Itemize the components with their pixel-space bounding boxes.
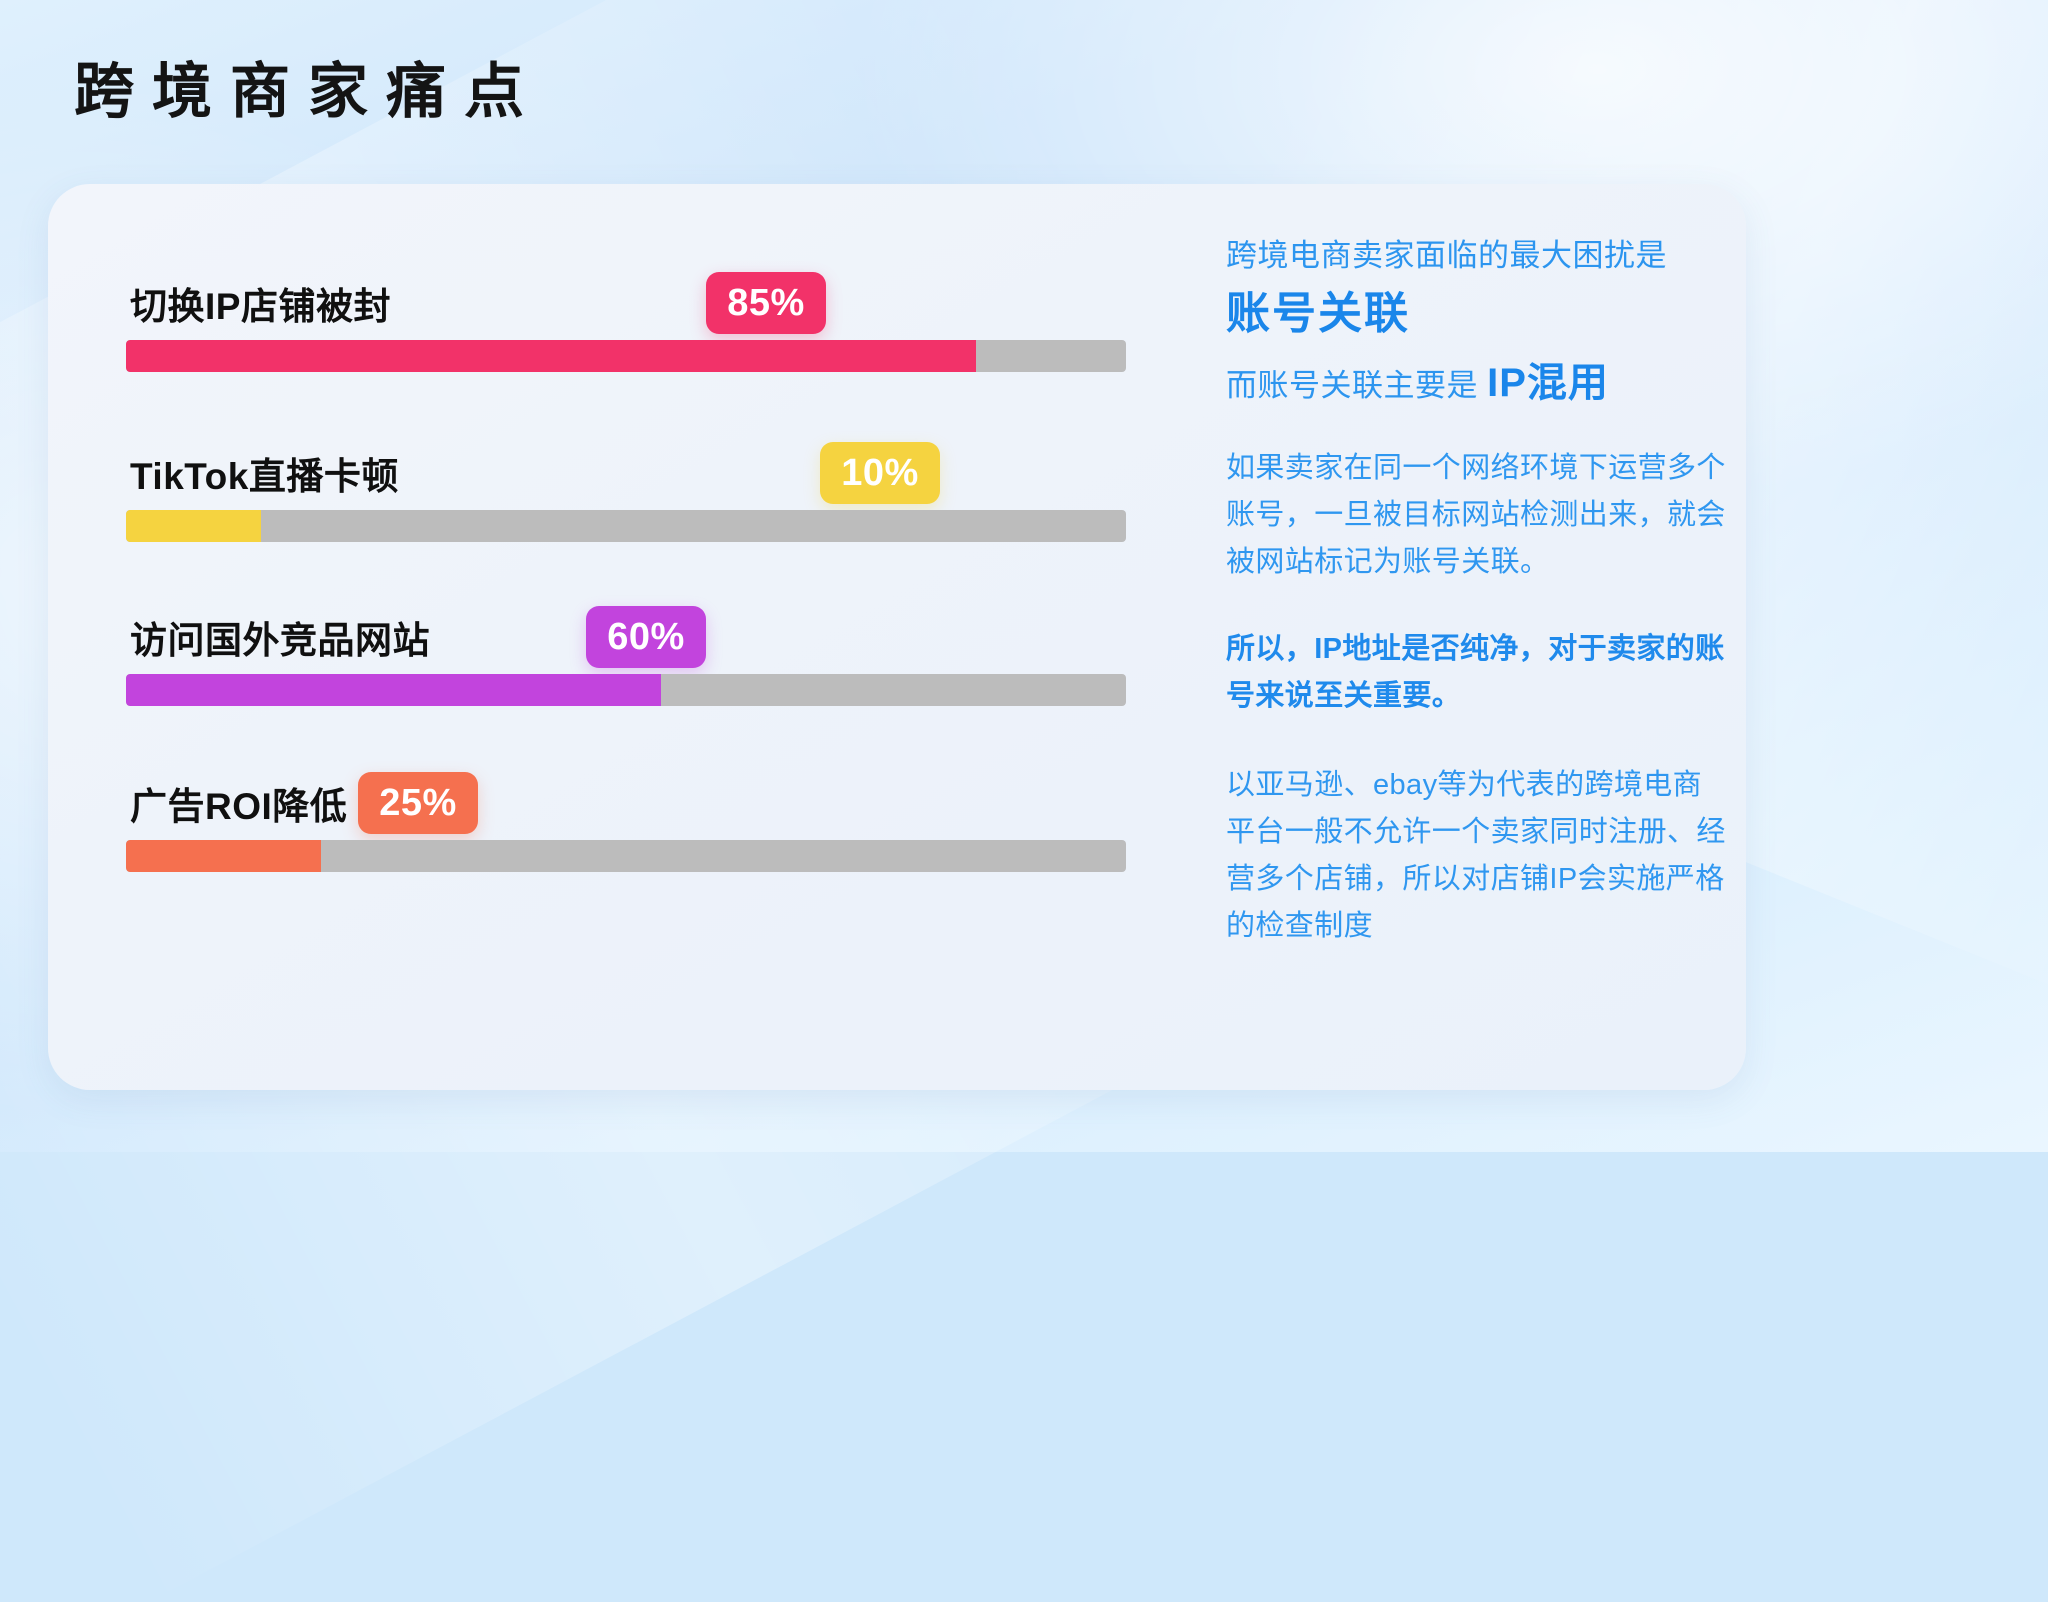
sub-headline-emphasis: IP混用	[1487, 361, 1609, 405]
page-title: 跨境商家痛点	[74, 62, 542, 122]
slide-canvas: 跨境商家痛点 切换IP店铺被封 85% TikTok直播卡顿 10%	[0, 0, 2048, 1152]
explanation-panel: 跨境电商卖家面临的最大困扰是 账号关联 而账号关联主要是 IP混用 如果卖家在同…	[1226, 234, 1726, 950]
bar-track	[126, 340, 1126, 372]
bar-header: 切换IP店铺被封 85%	[108, 254, 1168, 332]
bar-header: 广告ROI降低 25%	[108, 754, 1168, 832]
bar-label: 切换IP店铺被封	[130, 276, 391, 330]
bar-track	[126, 510, 1126, 542]
paragraph-three: 以亚马逊、ebay等为代表的跨境电商平台一般不允许一个卖家同时注册、经营多个店铺…	[1226, 762, 1726, 950]
sub-headline: 而账号关联主要是 IP混用	[1226, 355, 1726, 411]
content-card: 切换IP店铺被封 85% TikTok直播卡顿 10% 访问国外竞品网站	[48, 184, 1746, 1090]
pain-point-bar-chart: 切换IP店铺被封 85% TikTok直播卡顿 10% 访问国外竞品网站	[108, 236, 1168, 1036]
bar-label: 访问国外竞品网站	[130, 610, 430, 664]
bar-track	[126, 674, 1126, 706]
bar-label: 广告ROI降低	[130, 776, 347, 830]
bar-row: 访问国外竞品网站 60%	[108, 588, 1168, 706]
paragraph-two: 所以，IP地址是否纯净，对于卖家的账号来说至关重要。	[1226, 626, 1726, 720]
paragraph-one: 如果卖家在同一个网络环境下运营多个账号，一旦被目标网站检测出来，就会被网站标记为…	[1226, 445, 1726, 586]
bar-fill	[126, 510, 261, 542]
bar-label: TikTok直播卡顿	[130, 446, 399, 500]
bar-row: 切换IP店铺被封 85%	[108, 254, 1168, 372]
headline: 账号关联	[1226, 286, 1726, 341]
bar-header: TikTok直播卡顿 10%	[108, 424, 1168, 502]
bar-value-badge: 25%	[358, 772, 478, 834]
bar-header: 访问国外竞品网站 60%	[108, 588, 1168, 666]
bar-value-badge: 60%	[586, 606, 706, 668]
bar-fill	[126, 840, 321, 872]
lead-line: 跨境电商卖家面临的最大困扰是	[1226, 234, 1726, 278]
bar-value-badge: 10%	[820, 442, 940, 504]
bar-track	[126, 840, 1126, 872]
bar-fill	[126, 340, 976, 372]
bar-fill	[126, 674, 661, 706]
bar-row: 广告ROI降低 25%	[108, 754, 1168, 872]
sub-headline-prefix: 而账号关联主要是	[1226, 368, 1487, 403]
bar-value-badge: 85%	[706, 272, 826, 334]
bar-row: TikTok直播卡顿 10%	[108, 424, 1168, 542]
